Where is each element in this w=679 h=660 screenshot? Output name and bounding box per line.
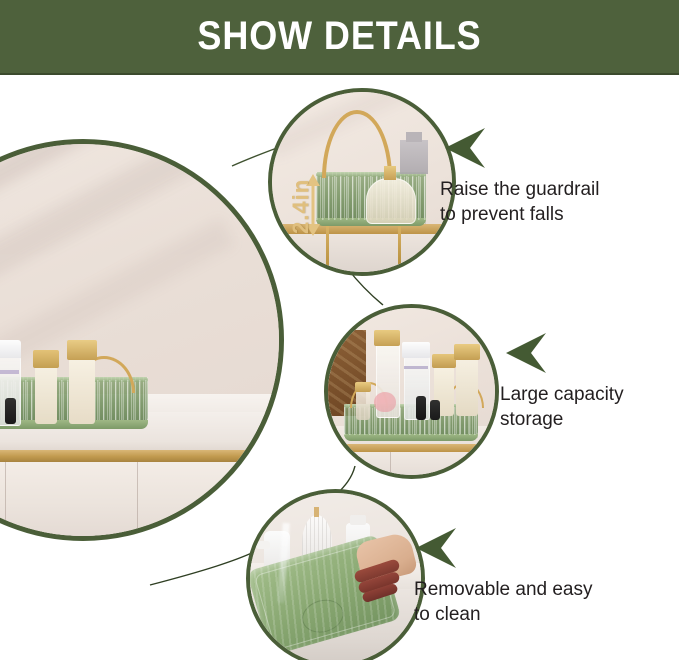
product-detail-image: SHOW DETAILS: [0, 0, 679, 660]
left-arrow-icon-removable: [414, 526, 458, 570]
measurement-label: 2.4in: [288, 179, 314, 234]
removable-photo: [250, 493, 421, 660]
hero-photo: [0, 144, 279, 536]
caption-line-2: to clean: [414, 602, 593, 627]
feature-caption-guardrail: Raise the guardrail to prevent falls: [440, 177, 599, 227]
feature-photo-removable: [246, 489, 425, 660]
guardrail-photo: 2.4in: [272, 92, 452, 272]
caption-line-2: storage: [500, 407, 624, 432]
caption-line-1: Raise the guardrail: [440, 177, 599, 202]
left-arrow-icon-capacity: [504, 331, 548, 375]
hero-photo-circle: [0, 139, 284, 541]
caption-line-2: to prevent falls: [440, 202, 599, 227]
feature-caption-removable: Removable and easy to clean: [414, 577, 593, 627]
caption-line-1: Large capacity: [500, 382, 624, 407]
caption-line-1: Removable and easy: [414, 577, 593, 602]
capacity-photo: [328, 308, 495, 475]
feature-photo-capacity: [324, 304, 499, 479]
feature-caption-capacity: Large capacity storage: [500, 382, 624, 432]
left-arrow-icon-guardrail: [443, 126, 487, 170]
feature-photo-guardrail: 2.4in: [268, 88, 456, 276]
